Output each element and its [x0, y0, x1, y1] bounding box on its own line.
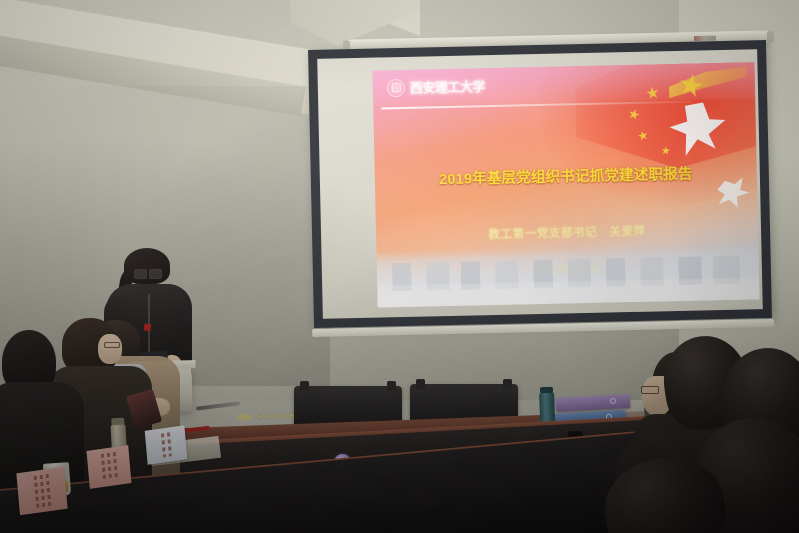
name-card-text [23, 473, 61, 510]
panel-button-1[interactable] [257, 414, 262, 419]
panel-label [238, 414, 252, 419]
university-wordmark: 西安理工大学 [410, 76, 485, 97]
slide-presenter-line: 教工第一党支部书记 关爱萍 [376, 220, 758, 244]
projected-slide: 西安理工大学 2019年基层党组织书记抓党建述职报告 教工第一党支部书记 关爱萍… [372, 62, 759, 307]
attendee-face [98, 334, 122, 364]
eyeglasses-icon [104, 342, 120, 348]
roller-cap-right [767, 31, 774, 42]
projection-screen-frame: 西安理工大学 2019年基层党组织书记抓党建述职报告 教工第一党支部书记 关爱萍… [308, 40, 772, 328]
seal-inner-glyph [391, 83, 400, 92]
projection-screen-surface: 西安理工大学 2019年基层党组织书记抓党建述职报告 教工第一党支部书记 关爱萍… [317, 49, 763, 319]
panel-button-2[interactable] [265, 414, 270, 419]
binder-ring-icon [610, 398, 616, 404]
presentation-photo-scene: 西安理工大学 2019年基层党组织书记抓党建述职报告 教工第一党支部书记 关爱萍… [0, 0, 799, 533]
panel-button-4[interactable] [281, 413, 286, 418]
panel-button-5[interactable] [289, 413, 294, 418]
name-card-text [93, 451, 125, 483]
campus-skyline-photo [376, 243, 759, 307]
name-card-text [151, 431, 181, 459]
eyeglasses-icon [641, 386, 659, 394]
eyeglasses-icon [134, 269, 162, 277]
name-card-2 [87, 445, 132, 489]
table-control-panel[interactable] [238, 413, 294, 420]
panel-button-3[interactable] [273, 414, 278, 419]
presenter-hair [124, 248, 170, 284]
name-card-1 [16, 467, 67, 516]
table-microphone [196, 401, 240, 410]
name-card-3 [145, 425, 188, 464]
slide-logo: 西安理工大学 [387, 76, 485, 97]
attendee-left-front [0, 330, 86, 480]
university-seal-icon [387, 78, 405, 96]
